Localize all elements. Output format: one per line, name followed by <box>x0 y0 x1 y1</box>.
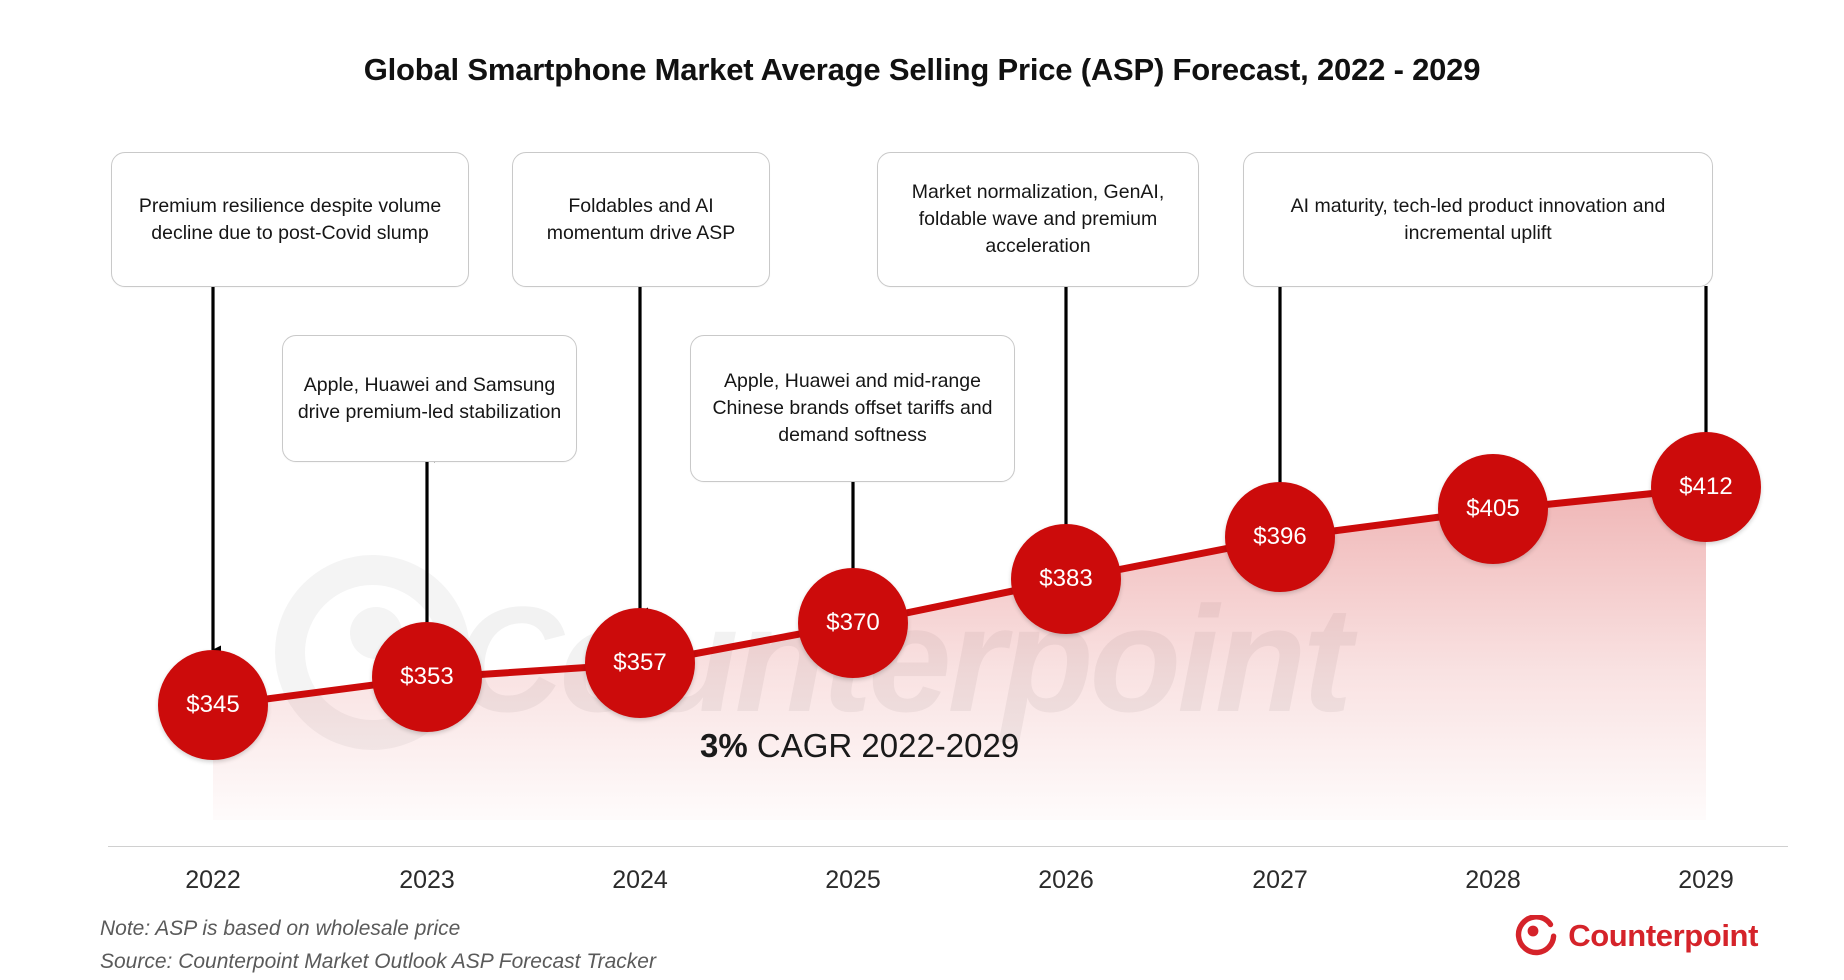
data-point-2024[interactable]: $357 <box>585 608 695 718</box>
data-label-2029: $412 <box>1679 473 1732 501</box>
footer-note: Note: ASP is based on wholesale price <box>100 917 460 941</box>
x-tick-2022: 2022 <box>143 866 283 895</box>
counterpoint-logo-icon <box>1515 915 1557 957</box>
callout-2026: Market normalization, GenAI, foldable wa… <box>877 152 1199 287</box>
data-label-2022: $345 <box>186 691 239 719</box>
data-label-2028: $405 <box>1466 495 1519 523</box>
callout-2025: Apple, Huawei and mid-range Chinese bran… <box>690 335 1015 482</box>
data-point-2022[interactable]: $345 <box>158 650 268 760</box>
chart-canvas: Global Smartphone Market Average Selling… <box>0 0 1844 980</box>
chart-plot <box>0 0 1844 980</box>
callout-2023-text: Apple, Huawei and Samsung drive premium-… <box>295 372 564 426</box>
cagr-annotation: 3% CAGR 2022-2029 <box>700 727 1019 765</box>
cagr-label: CAGR 2022-2029 <box>757 727 1019 764</box>
x-tick-2023: 2023 <box>357 866 497 895</box>
x-axis-line <box>108 846 1788 847</box>
callout-2022: Premium resilience despite volume declin… <box>111 152 469 287</box>
x-tick-2024: 2024 <box>570 866 710 895</box>
x-tick-2025: 2025 <box>783 866 923 895</box>
x-tick-2027: 2027 <box>1210 866 1350 895</box>
data-label-2024: $357 <box>613 649 666 677</box>
footer-source: Source: Counterpoint Market Outlook ASP … <box>100 950 656 974</box>
callout-2026-text: Market normalization, GenAI, foldable wa… <box>890 179 1186 260</box>
callout-2024: Foldables and AI momentum drive ASP <box>512 152 770 287</box>
x-tick-2028: 2028 <box>1423 866 1563 895</box>
data-point-2028[interactable]: $405 <box>1438 454 1548 564</box>
counterpoint-logo: Counterpoint <box>1515 915 1758 957</box>
callout-2024-text: Foldables and AI momentum drive ASP <box>525 193 757 247</box>
callout-2023: Apple, Huawei and Samsung drive premium-… <box>282 335 577 462</box>
data-label-2023: $353 <box>400 663 453 691</box>
data-point-2026[interactable]: $383 <box>1011 524 1121 634</box>
callout-2025-text: Apple, Huawei and mid-range Chinese bran… <box>703 368 1002 449</box>
callout-2029: AI maturity, tech-led product innovation… <box>1243 152 1713 287</box>
cagr-value: 3% <box>700 727 748 764</box>
callout-2029-text: AI maturity, tech-led product innovation… <box>1256 193 1700 247</box>
data-point-2023[interactable]: $353 <box>372 622 482 732</box>
x-tick-2029: 2029 <box>1636 866 1776 895</box>
data-point-2027[interactable]: $396 <box>1225 482 1335 592</box>
callout-2022-text: Premium resilience despite volume declin… <box>124 193 456 247</box>
data-label-2026: $383 <box>1039 565 1092 593</box>
data-point-2025[interactable]: $370 <box>798 568 908 678</box>
counterpoint-logo-text: Counterpoint <box>1568 918 1758 954</box>
data-label-2027: $396 <box>1253 523 1306 551</box>
data-point-2029[interactable]: $412 <box>1651 432 1761 542</box>
x-tick-2026: 2026 <box>996 866 1136 895</box>
data-label-2025: $370 <box>826 609 879 637</box>
